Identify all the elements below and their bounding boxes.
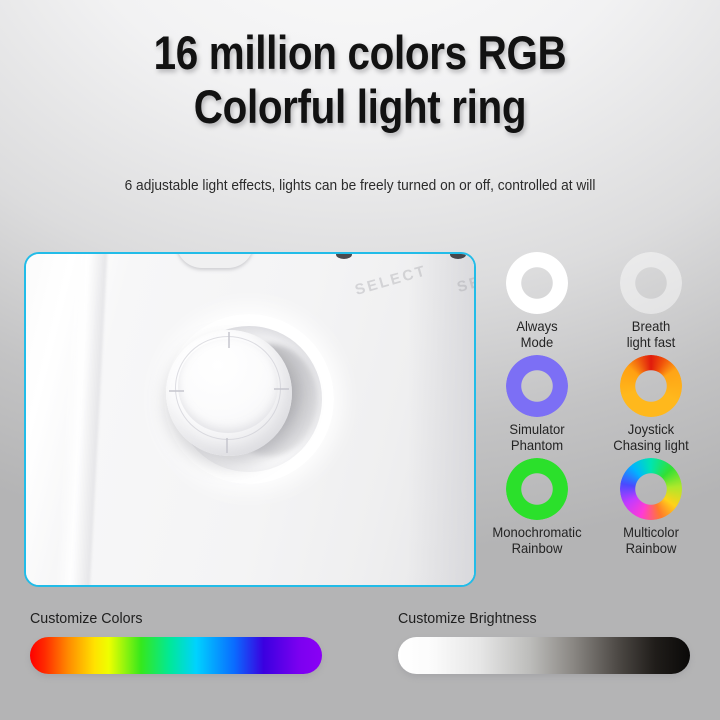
effect-multicolor-rainbow[interactable]: Multicolor Rainbow xyxy=(594,458,708,557)
light-effect-legend: Always Mode Breath light fast Simulator … xyxy=(480,252,708,557)
color-gradient-slider[interactable] xyxy=(30,637,322,674)
effect-label: Breath light fast xyxy=(596,319,705,351)
thumbstick-seam-ring xyxy=(175,336,281,440)
effect-joystick-chasing-light[interactable]: Joystick Chasing light xyxy=(594,355,708,454)
product-photo: SELECT SE xyxy=(24,252,476,587)
page-subtitle: 6 adjustable light effects, lights can b… xyxy=(22,178,699,194)
brightness-gradient-slider[interactable] xyxy=(398,637,690,674)
effect-simulator-phantom[interactable]: Simulator Phantom xyxy=(480,355,594,454)
effect-label: Multicolor Rainbow xyxy=(596,525,705,557)
light-ring-icon-always-mode xyxy=(506,252,568,314)
effect-label: Simulator Phantom xyxy=(482,422,591,454)
light-ring-icon-joystick-chasing-light xyxy=(620,355,682,417)
customize-brightness-block: Customize Brightness xyxy=(398,610,690,674)
headline-line-1: 16 million colors RGB xyxy=(154,26,567,79)
thumbstick-seam-bottom xyxy=(226,438,228,453)
customize-colors-label: Customize Colors xyxy=(30,610,307,627)
light-ring-icon-multicolor-rainbow xyxy=(620,458,682,520)
effect-label: Monochromatic Rainbow xyxy=(482,525,591,557)
light-ring-icon-simulator-phantom xyxy=(506,355,568,417)
thumbstick-seam-left xyxy=(169,390,184,392)
customize-brightness-label: Customize Brightness xyxy=(398,610,675,627)
effect-breath-light-fast[interactable]: Breath light fast xyxy=(594,252,708,351)
page-title: 16 million colors RGB Colorful light rin… xyxy=(50,26,669,133)
customize-colors-block: Customize Colors xyxy=(30,610,322,674)
headline-line-2: Colorful light ring xyxy=(50,80,669,134)
light-ring-icon-monochromatic-rainbow xyxy=(506,458,568,520)
effect-label: Always Mode xyxy=(482,319,591,351)
light-ring-icon-breath-light-fast xyxy=(620,252,682,314)
product-infographic: 16 million colors RGB Colorful light rin… xyxy=(0,0,720,720)
thumbstick xyxy=(166,330,292,456)
thumbstick-seam-top xyxy=(228,332,230,348)
thumbstick-seam-right xyxy=(274,388,289,390)
console-shell-right-shade xyxy=(408,254,474,585)
effect-monochromatic-rainbow[interactable]: Monochromatic Rainbow xyxy=(480,458,594,557)
effect-always-mode[interactable]: Always Mode xyxy=(480,252,594,351)
effect-label: Joystick Chasing light xyxy=(596,422,705,454)
